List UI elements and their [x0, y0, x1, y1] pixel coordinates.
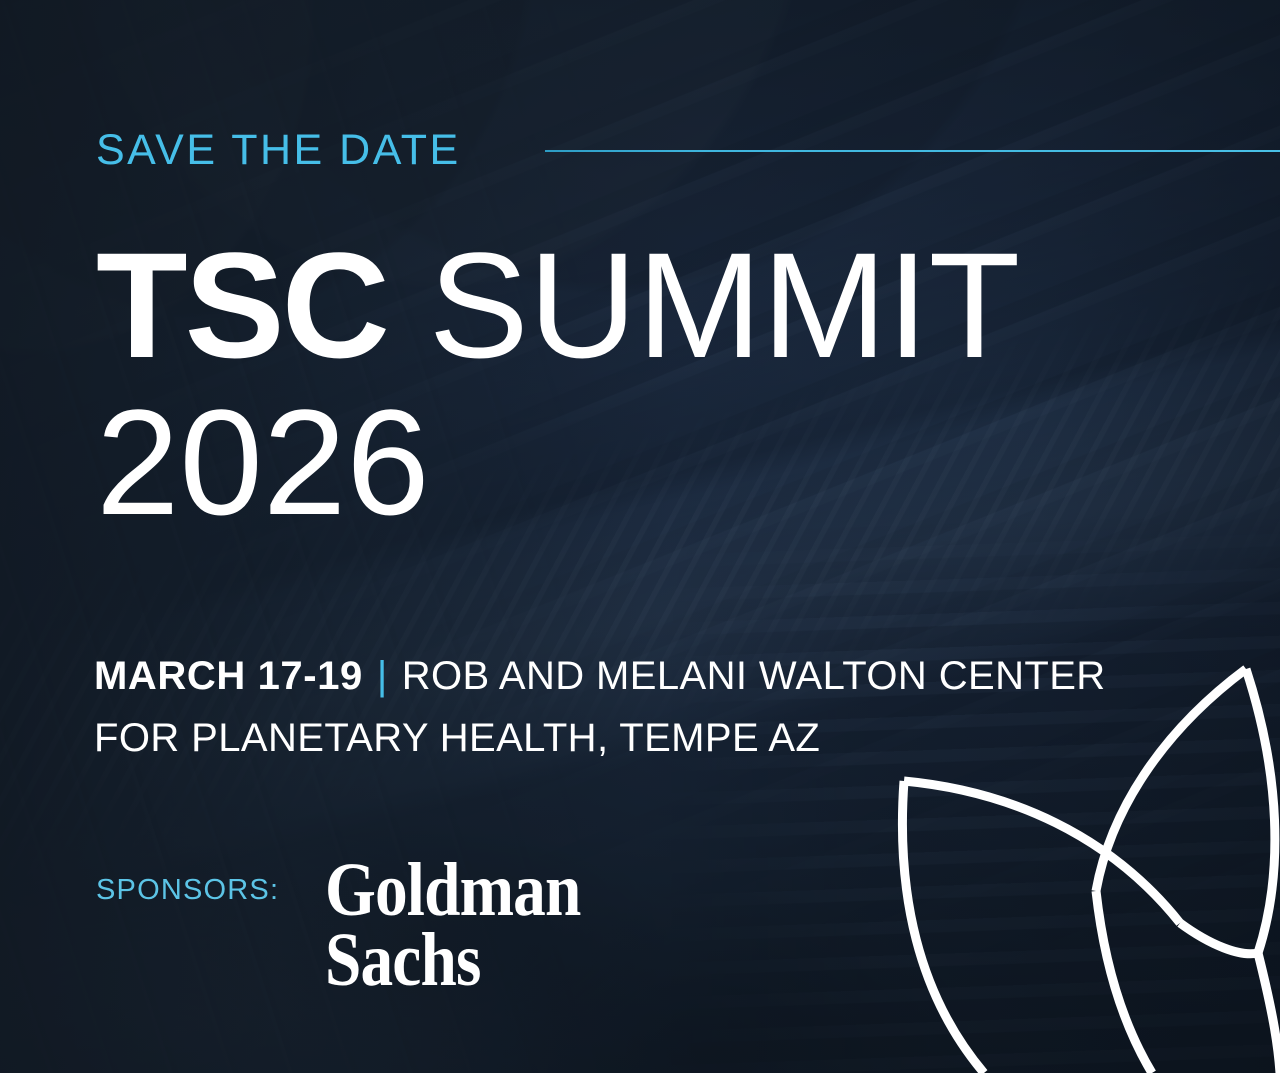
title-year: 2026 [96, 387, 1020, 537]
event-venue-line-2: FOR PLANETARY HEALTH, TEMPE AZ [94, 707, 1106, 769]
event-details: MARCH 17-19|ROB AND MELANI WALTON CENTER… [94, 645, 1106, 769]
sponsor-logo-line-1: Goldman [325, 856, 580, 926]
title-summit-word: SUMMIT [387, 221, 1020, 389]
poster-content: SAVE THE DATE TSC SUMMIT 2026 MARCH 17-1… [0, 0, 1280, 1073]
eyebrow-row: SAVE THE DATE [96, 129, 1280, 172]
details-line-one: MARCH 17-19|ROB AND MELANI WALTON CENTER [94, 645, 1106, 707]
sponsor-logo-line-2: Sachs [325, 926, 580, 996]
sponsor-logo-goldman-sachs: Goldman Sachs [325, 856, 580, 996]
eyebrow-divider-rule [545, 150, 1280, 152]
page-title: TSC SUMMIT 2026 [96, 232, 1020, 537]
sponsors-label: SPONSORS: [96, 856, 279, 905]
sponsors-section: SPONSORS: Goldman Sachs [96, 856, 622, 996]
details-separator: | [363, 654, 402, 698]
save-the-date-poster: SAVE THE DATE TSC SUMMIT 2026 MARCH 17-1… [0, 0, 1280, 1073]
eyebrow-save-the-date: SAVE THE DATE [96, 129, 461, 172]
event-date: MARCH 17-19 [94, 654, 363, 698]
title-acronym: TSC [96, 221, 387, 389]
event-venue-line-1: ROB AND MELANI WALTON CENTER [402, 654, 1106, 698]
title-first-line: TSC SUMMIT [96, 232, 1020, 379]
